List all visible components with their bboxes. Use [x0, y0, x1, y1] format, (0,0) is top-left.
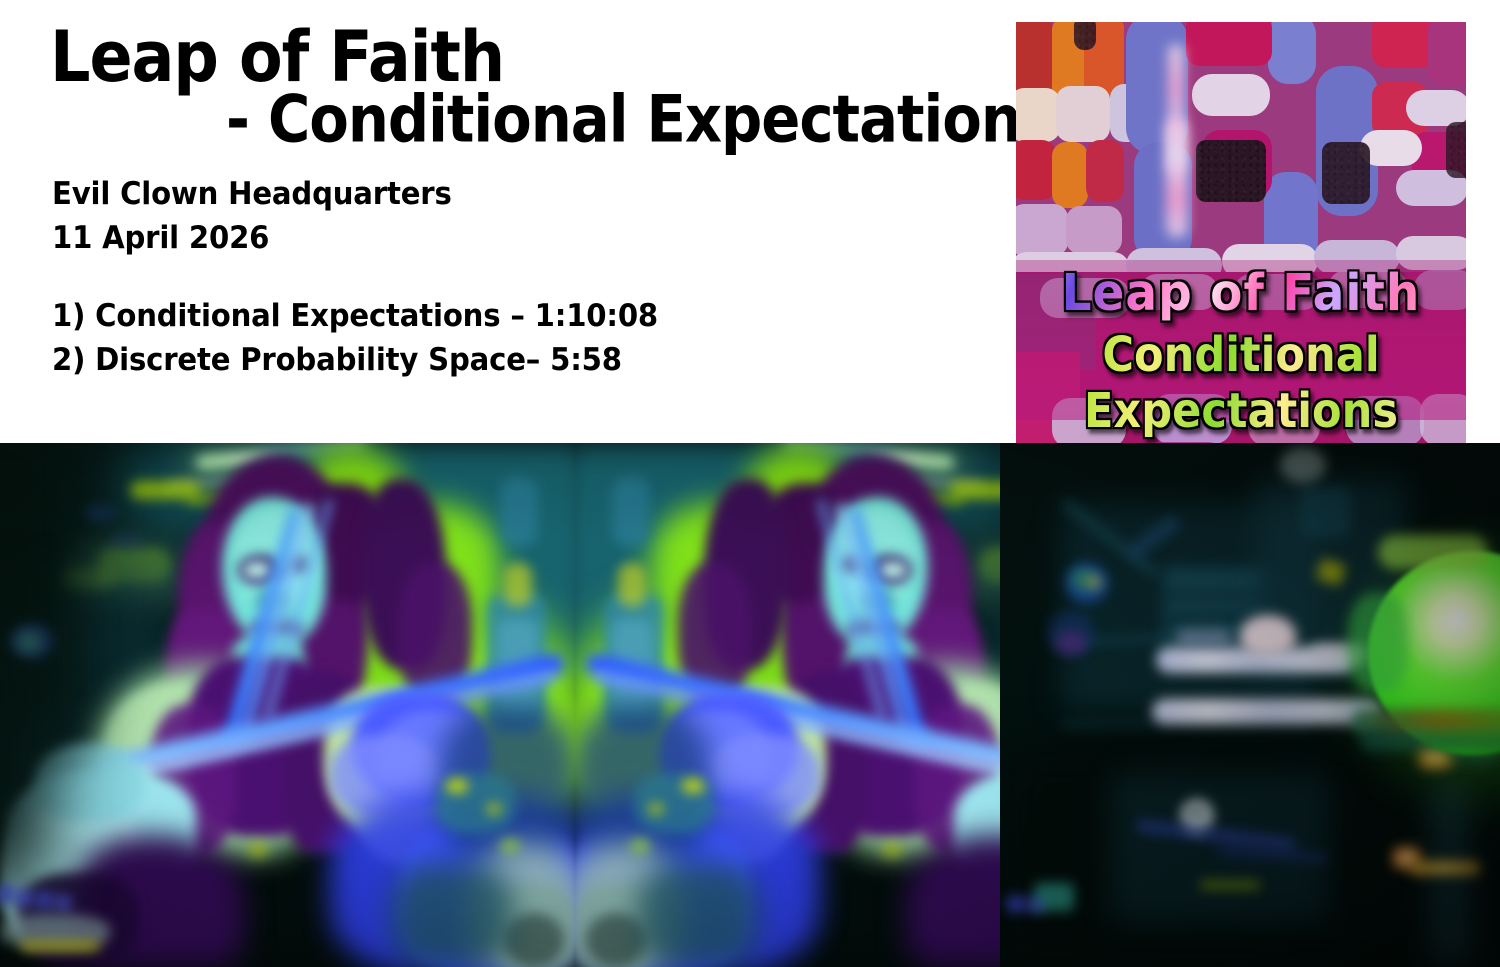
mirrored-cellist-photo — [0, 443, 1500, 967]
spacer — [52, 260, 697, 294]
album-title-text: Conditional Expectations — [1021, 327, 1462, 439]
album-band-name: Leap of Faith — [1016, 264, 1466, 323]
cellist-left — [0, 443, 575, 967]
stage-right-area — [1000, 443, 1500, 967]
track-item-2: 2) Discrete Probability Space– 5:58 — [52, 338, 658, 382]
venue-label: Evil Clown Headquarters — [52, 172, 658, 216]
slide-body-text: Evil Clown Headquarters 11 April 2026 1)… — [52, 172, 697, 382]
presentation-slide: Leap of Faith - Conditional Expectations… — [0, 0, 1500, 967]
page-title-line-2: - Conditional Expectations — [226, 88, 1054, 153]
album-cover-thumbnail: Leap of Faith Conditional Expectations — [1016, 22, 1466, 478]
date-label: 11 April 2026 — [52, 216, 658, 260]
track-item-1: 1) Conditional Expectations – 1:10:08 — [52, 294, 658, 338]
